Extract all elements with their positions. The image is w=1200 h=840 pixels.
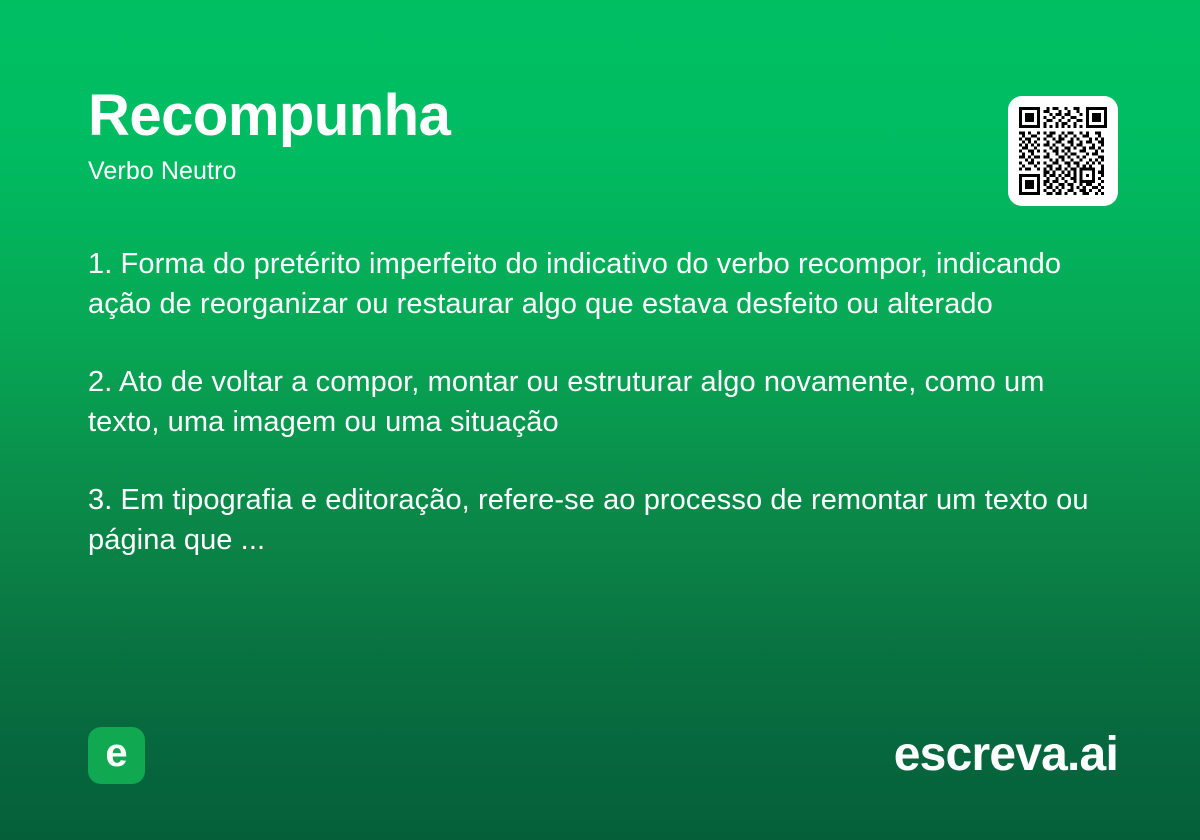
definition-item: 1. Forma do pretérito imperfeito do indi… — [88, 244, 1113, 324]
qr-code-icon — [1019, 107, 1107, 195]
logo-badge: e — [88, 727, 145, 784]
word-class-label: Verbo Neutro — [88, 157, 1112, 186]
card-header: Recompunha Verbo Neutro — [88, 86, 1112, 186]
qr-code[interactable] — [1008, 96, 1118, 206]
dictionary-card: Recompunha Verbo Neutro — [0, 0, 1200, 840]
page-title: Recompunha — [88, 86, 1112, 147]
definition-item: 2. Ato de voltar a compor, montar ou est… — [88, 362, 1113, 442]
card-footer: e escreva.ai — [88, 726, 1118, 784]
brand-wordmark: escreva.ai — [894, 731, 1118, 779]
definition-list: 1. Forma do pretérito imperfeito do indi… — [88, 244, 1113, 560]
definition-item: 3. Em tipografia e editoração, refere-se… — [88, 480, 1113, 560]
logo-letter: e — [105, 733, 127, 773]
